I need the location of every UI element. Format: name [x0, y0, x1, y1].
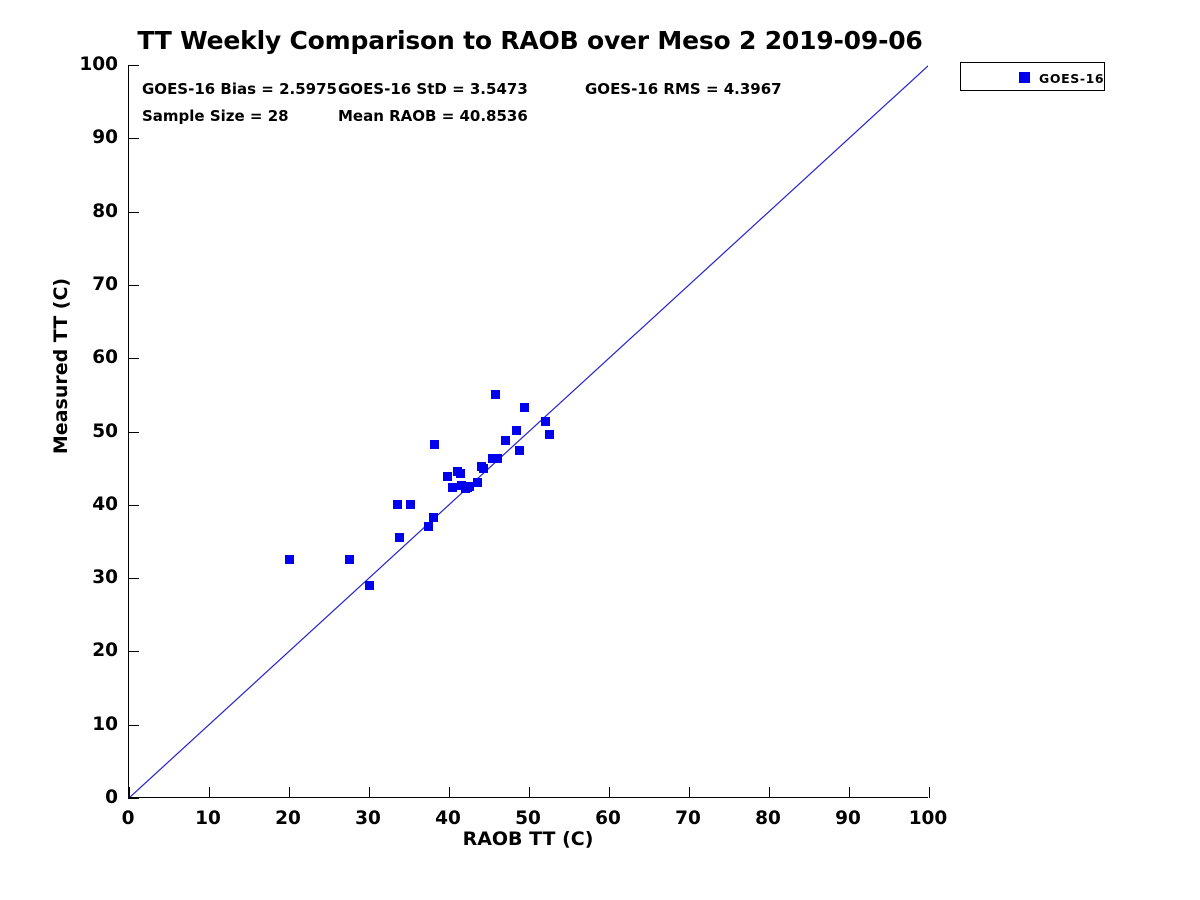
x-tick-mark: [129, 787, 130, 798]
x-tick-mark: [529, 787, 530, 798]
legend-box: GOES-16: [960, 62, 1105, 91]
plot-area: [128, 65, 928, 798]
x-tick-mark: [609, 787, 610, 798]
scatter-point: [285, 555, 294, 564]
scatter-point: [541, 417, 550, 426]
x-tick-label: 40: [408, 810, 488, 829]
stat-annotation: Sample Size = 28: [142, 107, 289, 125]
x-tick-label: 20: [248, 810, 328, 829]
x-tick-mark: [289, 787, 290, 798]
scatter-point: [345, 555, 354, 564]
scatter-point: [430, 440, 439, 449]
legend-marker-icon: [1019, 72, 1030, 83]
x-tick-mark: [449, 787, 450, 798]
scatter-point: [395, 533, 404, 542]
x-tick-mark: [769, 787, 770, 798]
scatter-point: [520, 403, 529, 412]
scatter-point: [406, 500, 415, 509]
x-tick-label: 70: [648, 810, 728, 829]
scatter-point: [515, 446, 524, 455]
scatter-point: [424, 522, 433, 531]
y-tick-mark: [128, 578, 139, 579]
scatter-point: [393, 500, 402, 509]
y-tick-mark: [128, 138, 139, 139]
x-tick-mark: [369, 787, 370, 798]
page-title: TT Weekly Comparison to RAOB over Meso 2…: [0, 26, 1060, 55]
y-axis-label: Measured TT (C): [50, 16, 72, 716]
x-tick-mark: [929, 787, 930, 798]
x-tick-label: 80: [728, 810, 808, 829]
y-tick-mark: [128, 798, 139, 799]
y-tick-mark: [128, 505, 139, 506]
figure-canvas: TT Weekly Comparison to RAOB over Meso 2…: [0, 0, 1200, 900]
scatter-point: [512, 426, 521, 435]
scatter-point: [501, 436, 510, 445]
stat-annotation: Mean RAOB = 40.8536: [338, 107, 528, 125]
x-tick-label: 30: [328, 810, 408, 829]
scatter-point: [479, 464, 488, 473]
scatter-point: [443, 472, 452, 481]
y-tick-mark: [128, 212, 139, 213]
stat-annotation: GOES-16 Bias = 2.5975: [142, 80, 337, 98]
scatter-point: [473, 478, 482, 487]
scatter-point: [456, 469, 465, 478]
x-tick-label: 60: [568, 810, 648, 829]
y-tick-mark: [128, 65, 139, 66]
y-tick-mark: [128, 651, 139, 652]
x-tick-label: 90: [808, 810, 888, 829]
scatter-point: [448, 483, 457, 492]
x-tick-mark: [209, 787, 210, 798]
y-tick-label: 0: [48, 789, 118, 808]
x-tick-label: 10: [168, 810, 248, 829]
legend-entry-label: GOES-16: [1039, 71, 1104, 86]
y-tick-mark: [128, 725, 139, 726]
x-tick-label: 100: [888, 810, 968, 829]
one-to-one-reference-line: [129, 65, 928, 797]
x-tick-label: 0: [88, 810, 168, 829]
stat-annotation: GOES-16 RMS = 4.3967: [585, 80, 782, 98]
y-tick-mark: [128, 432, 139, 433]
scatter-point: [365, 581, 374, 590]
y-tick-mark: [128, 358, 139, 359]
x-tick-mark: [849, 787, 850, 798]
x-tick-label: 50: [488, 810, 568, 829]
y-tick-label: 10: [48, 716, 118, 735]
stat-annotation: GOES-16 StD = 3.5473: [338, 80, 528, 98]
scatter-point: [493, 454, 502, 463]
scatter-point: [545, 430, 554, 439]
scatter-point: [491, 390, 500, 399]
plot-inner: [129, 65, 928, 797]
y-tick-mark: [128, 285, 139, 286]
scatter-point: [429, 513, 438, 522]
x-tick-mark: [689, 787, 690, 798]
x-axis-label: RAOB TT (C): [128, 828, 928, 850]
